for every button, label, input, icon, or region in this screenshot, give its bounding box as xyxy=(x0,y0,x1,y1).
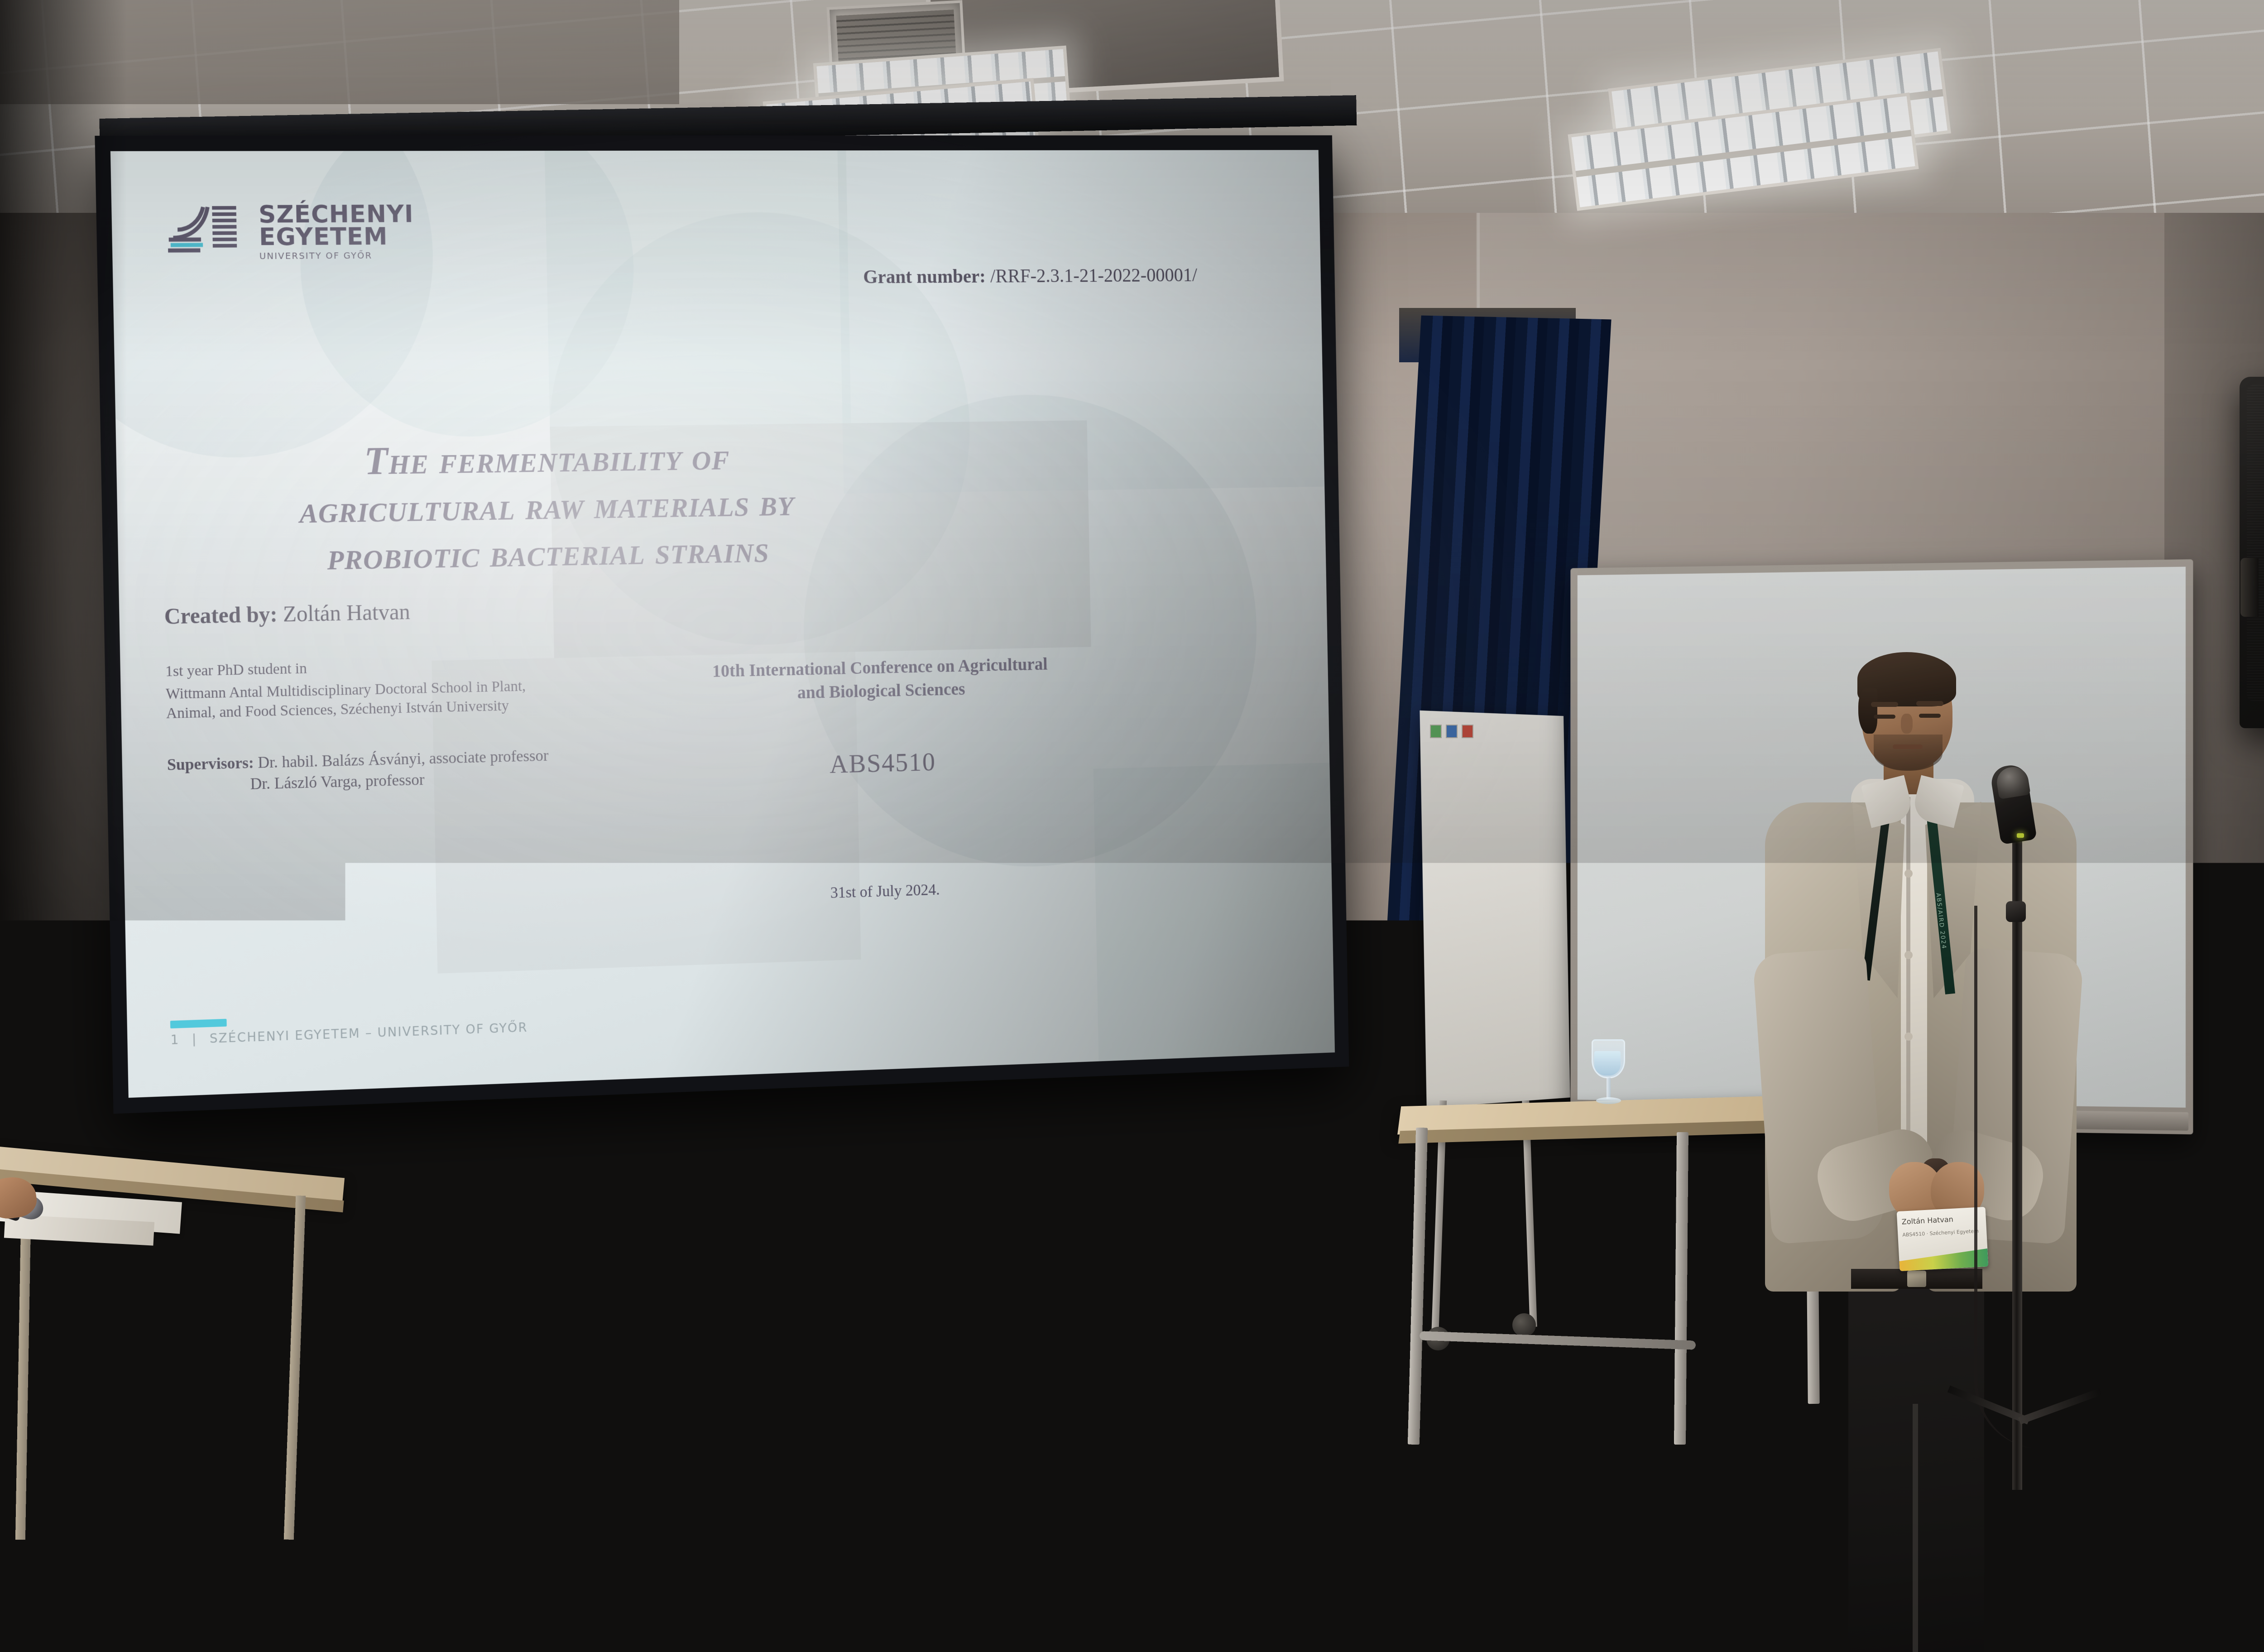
presenter-shirt-button xyxy=(1904,951,1913,959)
footer-accent-dash xyxy=(170,1019,227,1028)
ceiling-shadow-left xyxy=(0,0,679,104)
flipchart-magnet-blue xyxy=(1446,725,1458,738)
presenter-eyebrow-right xyxy=(1916,701,1943,706)
created-by-value: Zoltán Hatvan xyxy=(277,599,410,627)
projection-screen: SZÉCHENYI EGYETEM UNIVERSITY OF GYŐR Gra… xyxy=(95,135,1349,1114)
speaker-handle xyxy=(2240,558,2259,617)
conference-line-2: and Biological Sciences xyxy=(797,679,965,702)
szechenyi-egyetem-logo-mark xyxy=(162,203,248,254)
conference-name: 10th International Conference on Agricul… xyxy=(624,650,1133,708)
microphone-status-led xyxy=(2017,833,2024,838)
presenter-nose xyxy=(1901,714,1913,734)
grant-number-value: /RRF-2.3.1-21-2022-00001/ xyxy=(985,264,1197,287)
projection-screen-surface: SZÉCHENYI EGYETEM UNIVERSITY OF GYŐR Gra… xyxy=(110,150,1335,1098)
presenter-eyebrow-left xyxy=(1871,702,1898,707)
presenter-shirt-placket xyxy=(1906,797,1910,1177)
presenter-shirt-button xyxy=(1904,869,1913,878)
slide-footer: 1 | SZÉCHENYI EGYETEM – UNIVERSITY OF GY… xyxy=(170,993,1297,1047)
badge-name: Zoltán Hatvan xyxy=(1901,1213,1981,1226)
presenter-belt-buckle xyxy=(1907,1271,1926,1287)
presentation-date: 31st of July 2024. xyxy=(628,874,1137,908)
conference-room-scene: SZÉCHENYI EGYETEM UNIVERSITY OF GYŐR Gra… xyxy=(0,0,2264,1652)
university-logo-text: SZÉCHENYI EGYETEM UNIVERSITY OF GYŐR xyxy=(259,203,415,260)
flipchart-wheel xyxy=(1512,1313,1536,1337)
footer-accent-dash-wrap xyxy=(170,1019,227,1028)
slide-page-number: 1 xyxy=(170,1032,178,1047)
university-logo: SZÉCHENYI EGYETEM UNIVERSITY OF GYŐR xyxy=(162,203,414,261)
supervisors-label: Supervisors: xyxy=(167,754,254,774)
presenter-hair-sideburn xyxy=(1858,688,1877,734)
water-glass xyxy=(1592,1039,1625,1107)
chair-seat[interactable] xyxy=(1508,1526,1915,1652)
presenter-shirt-button xyxy=(1904,1032,1913,1041)
grant-number-label: Grant number: xyxy=(863,265,986,288)
flipchart-magnets xyxy=(1430,725,1473,738)
flipchart-magnet-green xyxy=(1430,725,1442,738)
affiliation: 1st year PhD student in Wittmann Antal M… xyxy=(165,651,672,723)
badge-subtitle: ABS4510 · Széchenyi Egyetem xyxy=(1902,1228,1982,1238)
microphone-cable xyxy=(1974,906,2042,1449)
slide-content: SZÉCHENYI EGYETEM UNIVERSITY OF GYŐR Gra… xyxy=(110,150,1335,1098)
presenter-beard xyxy=(1874,735,1943,771)
slide-title: The fermentability of agricultural raw m… xyxy=(143,431,943,584)
glass-stem xyxy=(1607,1077,1611,1099)
pa-speaker xyxy=(2240,377,2264,728)
footer-separator: | xyxy=(192,1032,197,1047)
footer-organization: SZÉCHENYI EGYETEM – UNIVERSITY OF GYŐR xyxy=(210,1020,528,1046)
floor-uplight-glow xyxy=(76,1292,1310,1453)
grant-number: Grant number: /RRF-2.3.1-21-2022-00001/ xyxy=(863,264,1198,288)
speaker-grille xyxy=(2247,385,2264,701)
created-by: Created by: Zoltán Hatvan xyxy=(164,599,410,629)
flipchart-easel xyxy=(1420,711,1570,1108)
microphone-stand-clamp[interactable] xyxy=(2006,901,2026,922)
flipchart-magnet-red xyxy=(1462,725,1473,738)
glass-water xyxy=(1594,1051,1621,1076)
presenter-mouth xyxy=(1893,744,1923,749)
affiliation-line-1: 1st year PhD student in xyxy=(165,651,672,682)
logo-line-3: UNIVERSITY OF GYŐR xyxy=(259,251,415,260)
glass-foot xyxy=(1596,1097,1621,1104)
created-by-label: Created by: xyxy=(164,601,278,629)
logo-line-2: EGYETEM xyxy=(259,225,414,248)
presenter-eye-left xyxy=(1874,715,1895,719)
presenter-eye-right xyxy=(1919,714,1941,718)
conference-line-1: 10th International Conference on Agricul… xyxy=(712,654,1048,681)
